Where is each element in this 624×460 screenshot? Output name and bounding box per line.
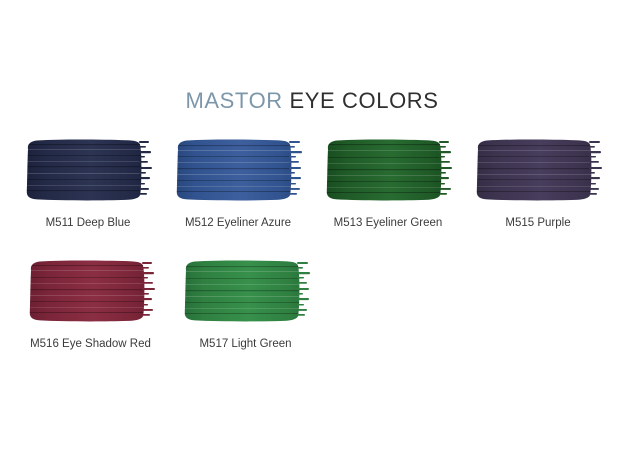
swatch-brushstroke-m512[interactable]	[172, 138, 304, 201]
swatch-brushstroke-m513[interactable]	[322, 138, 454, 201]
color-chart-page: MASTOR EYE COLORS	[0, 0, 624, 460]
brush-stroke-icon	[172, 138, 304, 201]
brush-stroke-icon	[25, 259, 157, 322]
swatch-cell-m513[interactable]: M513 Eyeliner Green	[313, 138, 463, 230]
page-title-rest: EYE COLORS	[283, 88, 439, 113]
swatch-cell-m511[interactable]: M511 Deep Blue	[13, 138, 163, 230]
swatch-label-m511: M511 Deep Blue	[46, 216, 131, 230]
swatch-cell-m515[interactable]: M515 Purple	[463, 138, 613, 230]
swatch-grid: M511 Deep Blue	[13, 138, 613, 351]
swatch-label-m515: M515 Purple	[505, 216, 570, 230]
brush-stroke-icon	[22, 138, 154, 201]
swatch-row: M516 Eye Shadow Red	[13, 259, 613, 351]
swatch-cell-m516[interactable]: M516 Eye Shadow Red	[13, 259, 168, 351]
swatch-label-m516: M516 Eye Shadow Red	[30, 337, 151, 351]
page-title-brand: MASTOR	[185, 88, 282, 113]
swatch-label-m512: M512 Eyeliner Azure	[185, 216, 291, 230]
brush-stroke-icon	[472, 138, 604, 201]
swatch-cell-m512[interactable]: M512 Eyeliner Azure	[163, 138, 313, 230]
swatch-brushstroke-m515[interactable]	[472, 138, 604, 201]
swatch-cell-m517[interactable]: M517 Light Green	[168, 259, 323, 351]
page-title: MASTOR EYE COLORS	[0, 88, 624, 114]
swatch-brushstroke-m516[interactable]	[25, 259, 157, 322]
swatch-brushstroke-m511[interactable]	[22, 138, 154, 201]
swatch-label-m513: M513 Eyeliner Green	[334, 216, 443, 230]
swatch-brushstroke-m517[interactable]	[180, 259, 312, 322]
swatch-row: M511 Deep Blue	[13, 138, 613, 230]
brush-stroke-icon	[322, 138, 454, 201]
swatch-label-m517: M517 Light Green	[199, 337, 291, 351]
brush-stroke-icon	[180, 259, 312, 322]
